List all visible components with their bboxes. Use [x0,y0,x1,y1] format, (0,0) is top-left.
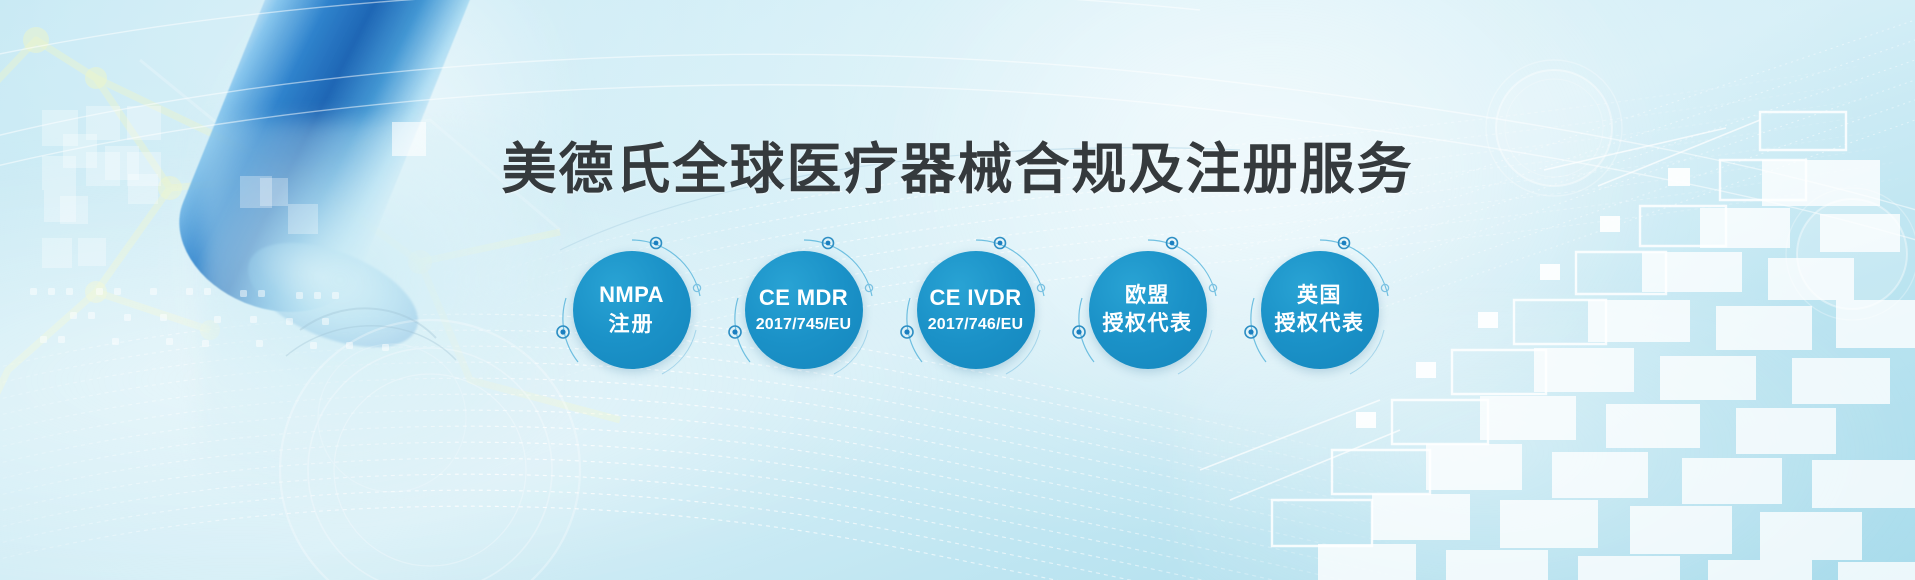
badge-disc-ce-mdr: CE MDR 2017/745/EU [745,251,863,369]
badge-line1: CE MDR [759,285,848,312]
page-title: 美德氏全球医疗器械合规及注册服务 [0,124,1915,204]
badge-disc-eu-ar: 欧盟 授权代表 [1089,251,1207,369]
badge-line1: 英国 [1297,283,1342,309]
badge-line2: 2017/746/EU [928,315,1024,335]
badge-disc-nmpa: NMPA 注册 [573,251,691,369]
badge-disc-ce-ivdr: CE IVDR 2017/746/EU [917,251,1035,369]
badge-line1: CE IVDR [929,285,1021,312]
badge-row: NMPA 注册 CE MDR 201 [0,234,1915,386]
badge-ce-mdr[interactable]: CE MDR 2017/745/EU [728,234,880,386]
badge-line2: 注册 [609,312,655,338]
badge-line2: 2017/745/EU [756,315,852,335]
badge-nmpa[interactable]: NMPA 注册 [556,234,708,386]
badge-ce-ivdr[interactable]: CE IVDR 2017/746/EU [900,234,1052,386]
hero-banner: 美德氏全球医疗器械合规及注册服务 NMPA 注册 [0,0,1915,580]
badge-eu-authorized-representative[interactable]: 欧盟 授权代表 [1072,234,1224,386]
badge-line1: 欧盟 [1125,283,1170,309]
badge-line1: NMPA [599,282,664,309]
badge-disc-uk-ar: 英国 授权代表 [1261,251,1379,369]
badge-line2: 授权代表 [1275,311,1365,337]
badge-line2: 授权代表 [1103,311,1193,337]
badge-uk-authorized-representative[interactable]: 英国 授权代表 [1244,234,1396,386]
